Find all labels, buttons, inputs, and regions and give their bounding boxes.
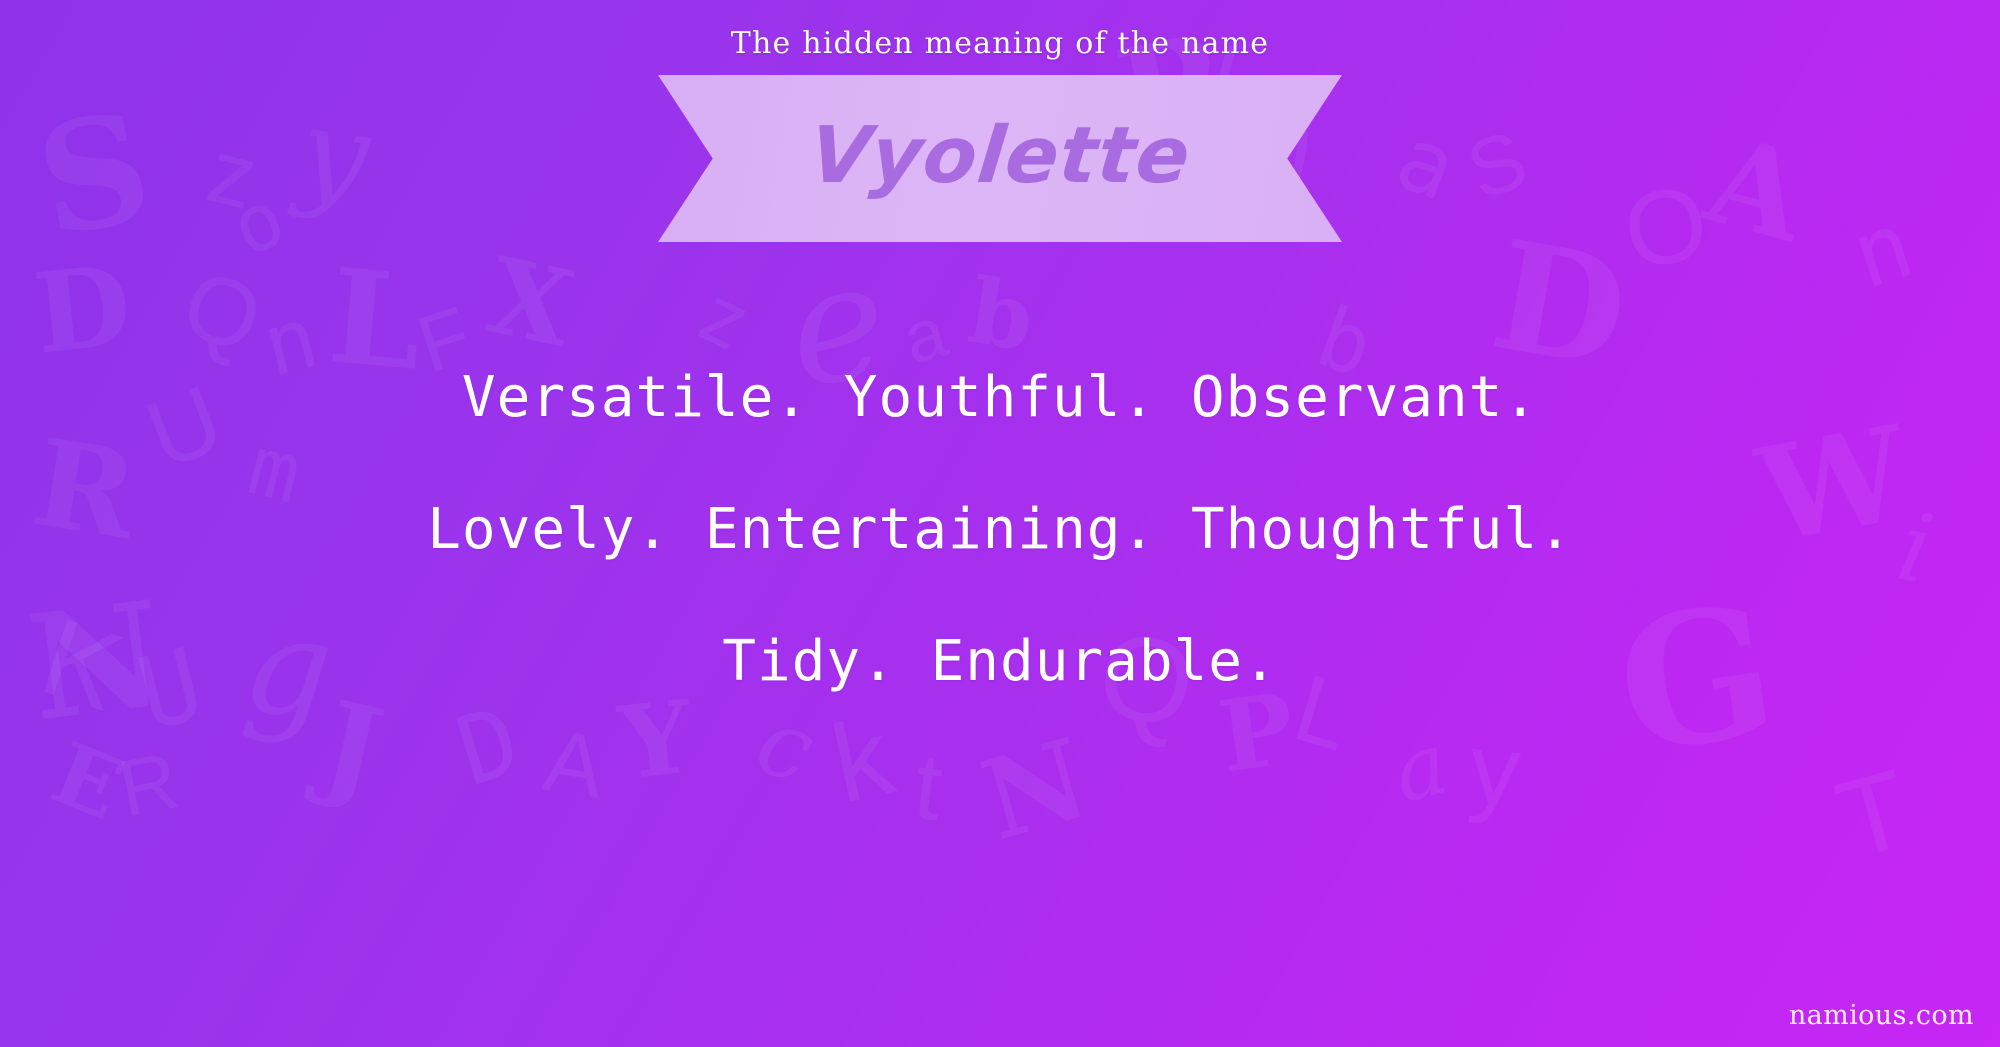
meaning-line-1: Versatile. Youthful. Observant. xyxy=(0,332,2000,464)
meaning-line-2: Lovely. Entertaining. Thoughtful. xyxy=(0,464,2000,596)
watermark-letter: o xyxy=(222,179,295,269)
watermark-letter: y xyxy=(292,91,376,219)
site-credit: namious.com xyxy=(1789,1000,1974,1031)
meaning-line-3: Tidy. Endurable. xyxy=(0,596,2000,728)
watermark-letter: A xyxy=(1696,120,1817,260)
watermark-letter: R xyxy=(113,740,185,830)
watermark-letter: y xyxy=(1466,718,1525,822)
meaning-text-block: Versatile. Youthful. Observant. Lovely. … xyxy=(0,332,2000,728)
page-title: The hidden meaning of the name xyxy=(0,26,2000,61)
watermark-letter: E xyxy=(41,731,133,834)
watermark-letter: z xyxy=(200,126,265,224)
watermark-letter: O xyxy=(1617,169,1714,285)
watermark-letter: N xyxy=(972,723,1099,856)
name-banner: Vyolette xyxy=(658,75,1342,242)
watermark-letter: a xyxy=(1386,720,1455,815)
watermark-letter: n xyxy=(1842,199,1923,304)
watermark-letter: S xyxy=(1458,118,1537,214)
name-meaning-card: SzoyDQnLFXezabPLyaSDOAnNKUgERJDAYcktNQPL… xyxy=(0,0,2000,1047)
watermark-letter: A xyxy=(538,716,610,812)
watermark-letter: T xyxy=(1827,753,1920,877)
watermark-letter: t xyxy=(909,739,947,837)
name-text: Vyolette xyxy=(649,75,1351,242)
watermark-letter: a xyxy=(1385,113,1467,214)
watermark-letter: S xyxy=(28,92,161,259)
